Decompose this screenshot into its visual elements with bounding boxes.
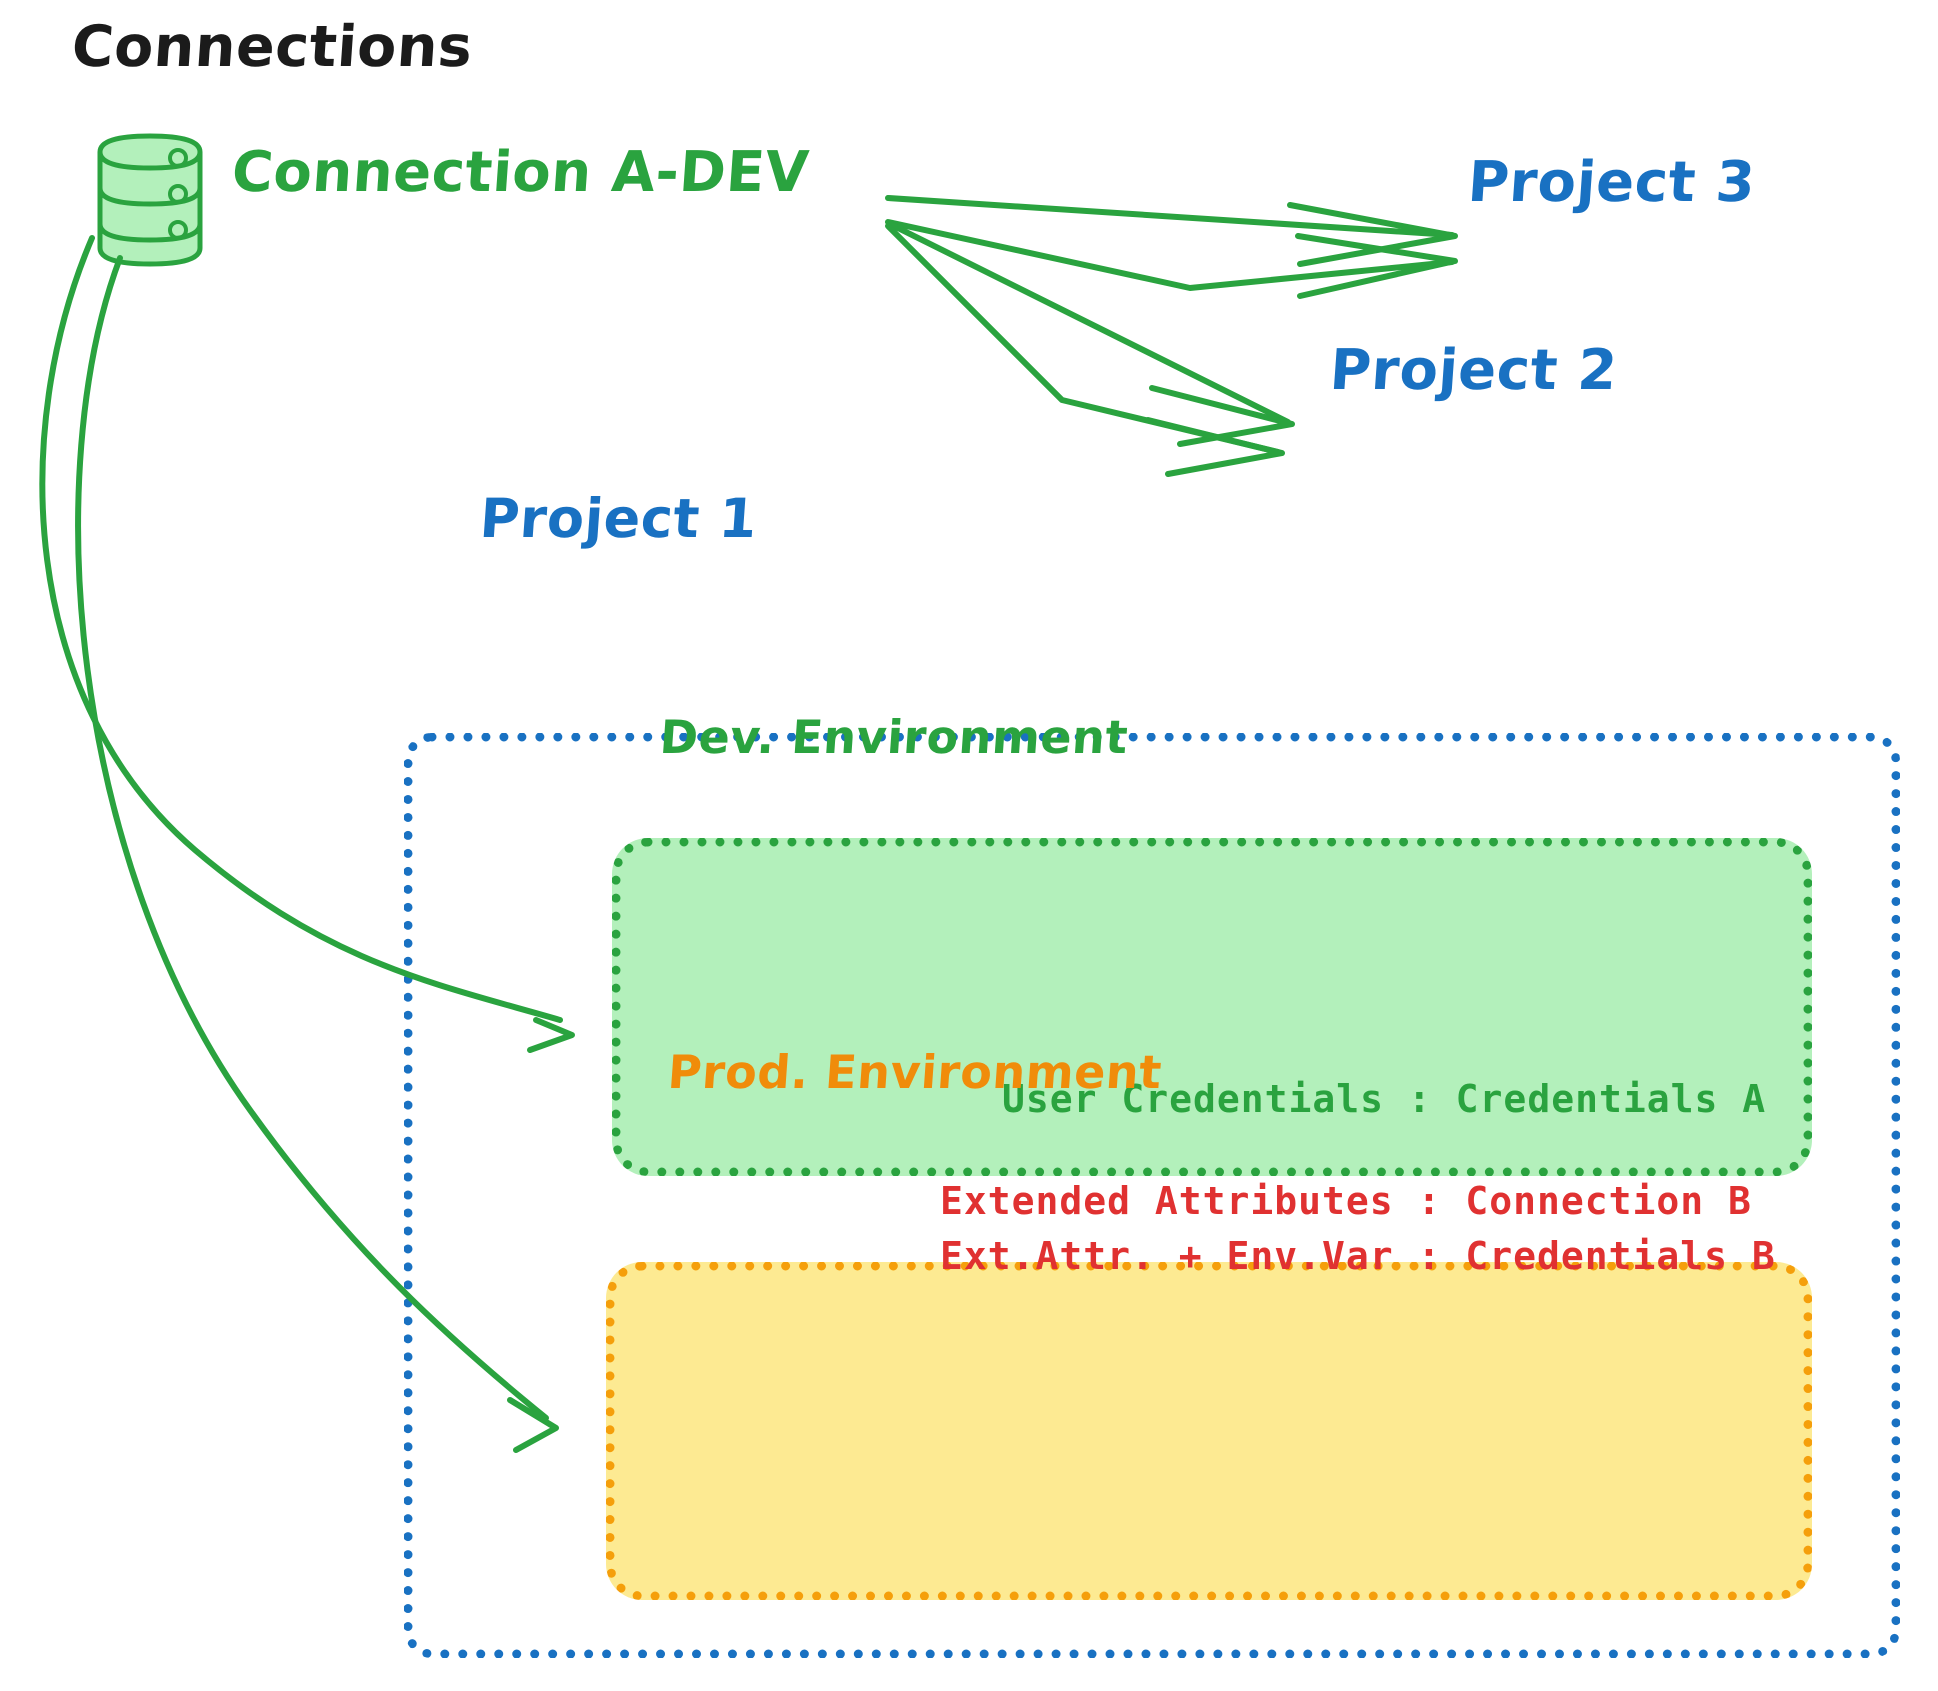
dev-environment-label: Dev. Environment — [658, 710, 1130, 764]
edge-connection-to-project-2-a — [890, 224, 1292, 444]
project-2-label[interactable]: Project 2 — [1328, 338, 1620, 403]
prod-ext-attr-env-var-row: Ext.Attr. + Env.Var : Credentials B — [940, 1234, 1776, 1278]
project-1-label[interactable]: Project 1 — [478, 487, 760, 550]
edge-connection-to-project-3-b — [888, 222, 1455, 296]
project-3-label[interactable]: Project 3 — [1466, 150, 1758, 215]
edge-connection-to-project-2-b — [888, 226, 1282, 474]
database-cylinder-icon — [90, 130, 210, 270]
diagram-canvas: Connections Connection A-DEV Project 3 P… — [0, 0, 1938, 1691]
prod-environment-label: Prod. Environment — [666, 1045, 1164, 1099]
edge-connection-to-project-3-a — [888, 198, 1455, 264]
dev-environment-box[interactable] — [612, 838, 1812, 1176]
page-title: Connections — [70, 14, 475, 80]
prod-environment-box[interactable] — [606, 1262, 1812, 1600]
prod-extended-attributes-row: Extended Attributes : Connection B — [940, 1179, 1752, 1223]
connection-label[interactable]: Connection A-DEV — [230, 140, 811, 205]
